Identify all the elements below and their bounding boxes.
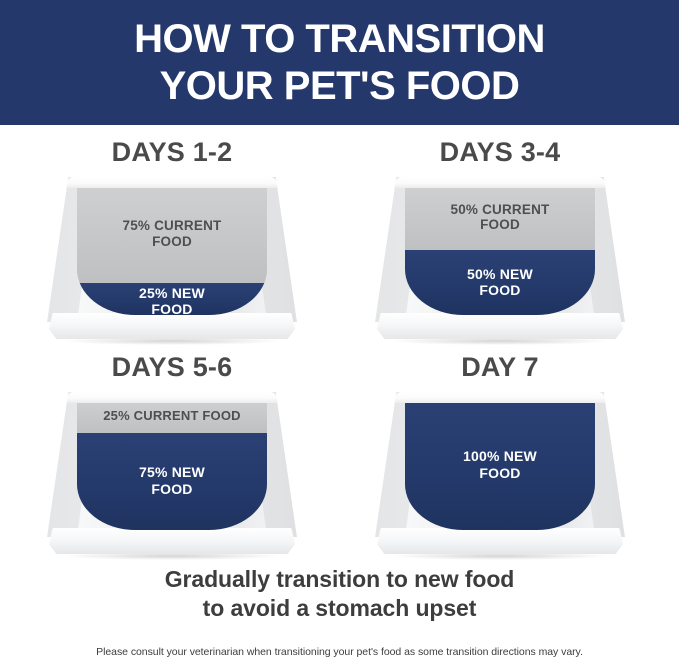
tagline-line-2: to avoid a stomach upset	[0, 594, 679, 623]
step-panel-days-1-2: DAYS 1-2 75% CURRENT FOOD 25%	[12, 137, 332, 352]
new-food-fill	[405, 400, 595, 530]
bowl-pedestal-base	[377, 313, 623, 339]
bowl-food-cavity	[405, 185, 595, 315]
new-food-fill	[77, 283, 267, 316]
bowl-rim-highlight	[395, 392, 605, 403]
bowl-rim-highlight	[395, 177, 605, 188]
tagline-line-1: Gradually transition to new food	[0, 565, 679, 594]
header-banner: HOW TO TRANSITION YOUR PET'S FOOD	[0, 0, 679, 125]
bowl-food-cavity	[77, 185, 267, 315]
bowl-graphic: 100% NEW FOOD	[375, 392, 625, 564]
new-food-fill	[77, 433, 267, 531]
step-panel-days-3-4: DAYS 3-4 50% CURRENT FOOD 50%	[340, 137, 660, 352]
header-title-line-1: HOW TO TRANSITION	[134, 16, 545, 63]
bowl-rim-highlight	[67, 392, 277, 403]
disclaimer-text: Please consult your veterinarian when tr…	[0, 645, 679, 659]
infographic-page: HOW TO TRANSITION YOUR PET'S FOOD DAYS 1…	[0, 0, 679, 661]
current-food-fill	[77, 185, 267, 283]
current-food-fill	[405, 185, 595, 250]
footer: Gradually transition to new food to avoi…	[0, 565, 679, 661]
bowl-pedestal-base	[377, 528, 623, 554]
step-day-label: DAYS 5-6	[12, 352, 332, 386]
bowl-rim-highlight	[67, 177, 277, 188]
new-food-fill	[405, 250, 595, 315]
step-panel-days-5-6: DAYS 5-6 25% CURRENT FOOD 75	[12, 352, 332, 567]
step-panel-day-7: DAY 7 100% NEW FO	[340, 352, 660, 567]
bowl-pedestal-base	[49, 313, 295, 339]
bowl-graphic: 50% CURRENT FOOD 50% NEW FOOD	[375, 177, 625, 349]
bowl-pedestal-base	[49, 528, 295, 554]
bowl-graphic: 25% CURRENT FOOD 75% NEW FOOD	[47, 392, 297, 564]
current-food-fill	[77, 400, 267, 433]
header-title-line-2: YOUR PET'S FOOD	[160, 63, 520, 110]
bowl-food-cavity	[77, 400, 267, 530]
bowl-food-cavity	[405, 400, 595, 530]
step-day-label: DAYS 3-4	[340, 137, 660, 171]
step-day-label: DAYS 1-2	[12, 137, 332, 171]
steps-grid: DAYS 1-2 75% CURRENT FOOD 25%	[0, 125, 679, 565]
step-day-label: DAY 7	[340, 352, 660, 386]
bowl-graphic: 75% CURRENT FOOD 25% NEW FOOD	[47, 177, 297, 349]
